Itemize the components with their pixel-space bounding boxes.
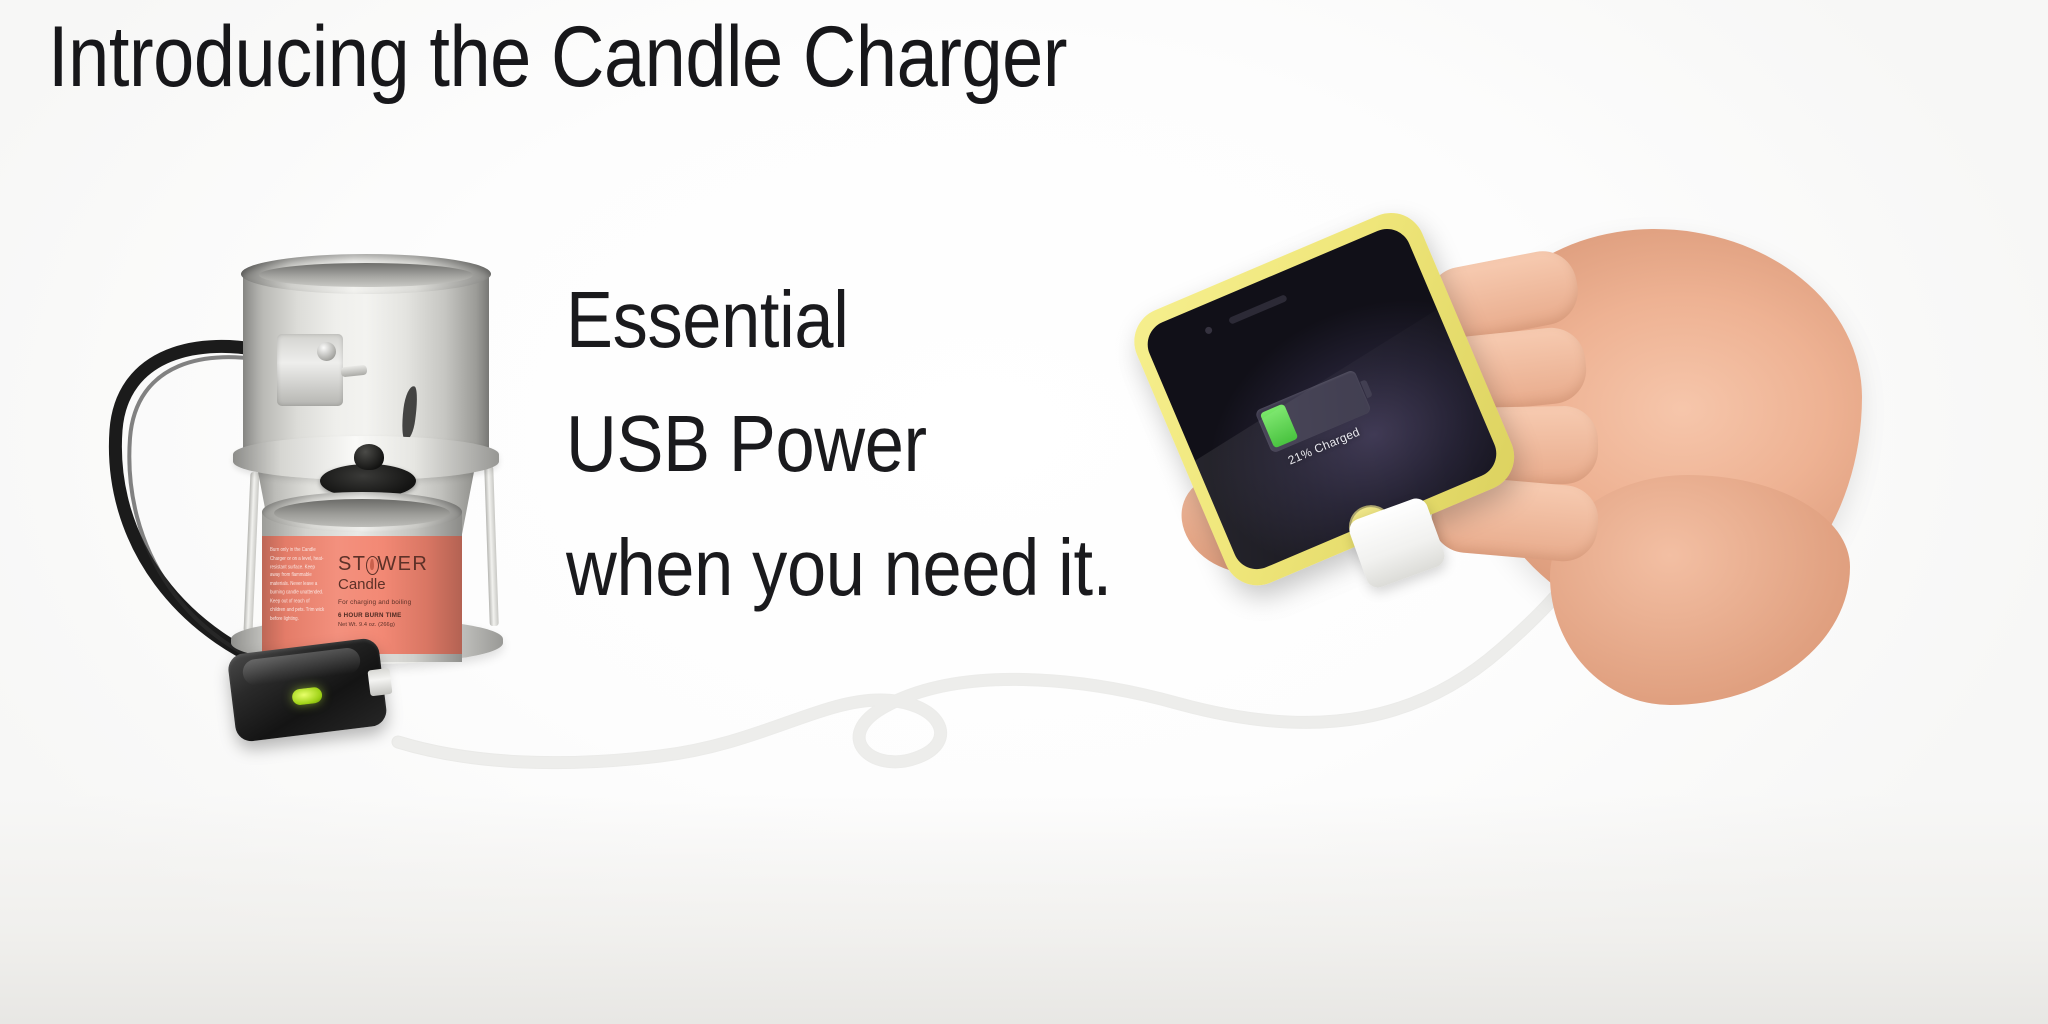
tagline-line-3: when you need it.	[566, 506, 1112, 630]
tin-interior	[274, 499, 450, 527]
label-side-copy: Burn only in the Candle Charger or on a …	[270, 546, 326, 623]
label-product-name: Candle	[338, 577, 458, 592]
flame-icon	[366, 556, 377, 573]
stove-leg-left	[244, 472, 260, 632]
product-banner: Introducing the Candle Charger Essential…	[0, 0, 2048, 1024]
page-title: Introducing the Candle Charger	[48, 12, 1067, 103]
stove-screw	[317, 342, 336, 361]
stove-rim-inner	[259, 263, 473, 287]
stove-vent	[400, 385, 419, 440]
usb-power-module	[227, 637, 390, 753]
module-highlight	[241, 646, 361, 686]
label-burn-time: 6 HOUR BURN TIME	[338, 612, 458, 619]
label-main-block: STWER Candle For charging and boiling 6 …	[338, 554, 458, 628]
usb-port	[367, 668, 392, 696]
tagline: Essential USB Power when you need it.	[566, 258, 1112, 630]
label-descriptor: For charging and boiling	[338, 599, 458, 606]
front-camera-icon	[1204, 326, 1213, 335]
brand-wordmark: STWER	[338, 554, 458, 574]
stove-leg-right	[484, 466, 499, 626]
brand-text-left: ST	[338, 553, 366, 575]
label-net-weight: Net Wt. 9.4 oz. (266g)	[338, 622, 458, 628]
candle-label: Burn only in the Candle Charger or on a …	[262, 536, 462, 654]
hand-holding-phone: 21% Charged	[1160, 225, 2040, 785]
tagline-line-1: Essential	[566, 258, 1112, 382]
earpiece-speaker	[1228, 294, 1288, 325]
burner-knob	[354, 444, 384, 470]
brand-text-right: WER	[377, 553, 428, 575]
tagline-line-2: USB Power	[566, 382, 1112, 506]
floor-shadow	[0, 794, 2048, 1024]
